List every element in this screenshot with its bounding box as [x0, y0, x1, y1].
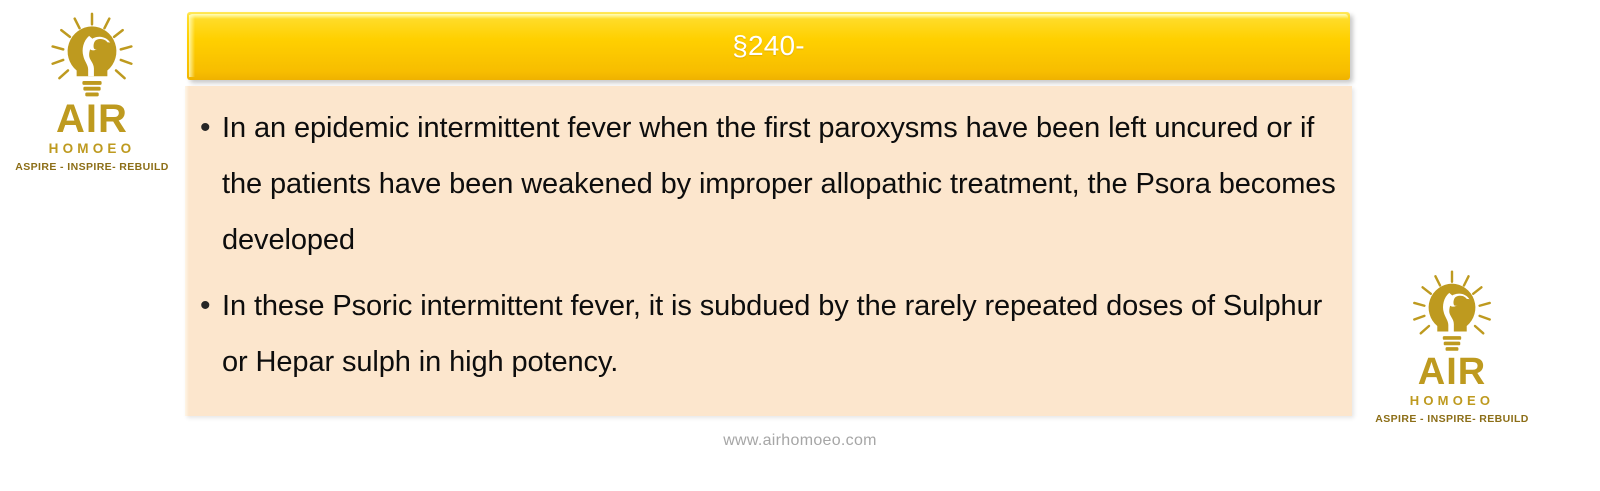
lightbulb-logo-icon: [44, 10, 140, 106]
list-item: • In these Psoric intermittent fever, it…: [196, 278, 1346, 390]
logo-subtitle: HOMOEO: [1410, 393, 1494, 408]
list-item: • In an epidemic intermittent fever when…: [196, 100, 1346, 268]
bullet-marker-icon: •: [196, 278, 222, 334]
logo-tagline: ASPIRE - INSPIRE- REBUILD: [1375, 413, 1529, 425]
logo-subtitle: HOMOEO: [49, 141, 136, 156]
footer-website-url: www.airhomoeo.com: [0, 432, 1600, 450]
slide-title: §240-: [732, 30, 805, 62]
brand-logo-top-left: AIR HOMOEO ASPIRE - INSPIRE- REBUILD: [18, 10, 166, 173]
logo-wordmark: AIR: [56, 100, 128, 138]
bullet-text: In an epidemic intermittent fever when t…: [222, 100, 1346, 268]
slide-title-bar: §240-: [187, 12, 1350, 80]
bullet-text: In these Psoric intermittent fever, it i…: [222, 278, 1346, 390]
lightbulb-logo-icon: [1406, 268, 1498, 360]
slide-bullet-list: • In an epidemic intermittent fever when…: [196, 100, 1346, 400]
brand-logo-bottom-right: AIR HOMOEO ASPIRE - INSPIRE- REBUILD: [1378, 268, 1526, 425]
bullet-marker-icon: •: [196, 100, 222, 156]
logo-wordmark: AIR: [1418, 354, 1486, 390]
logo-tagline: ASPIRE - INSPIRE- REBUILD: [15, 161, 169, 173]
